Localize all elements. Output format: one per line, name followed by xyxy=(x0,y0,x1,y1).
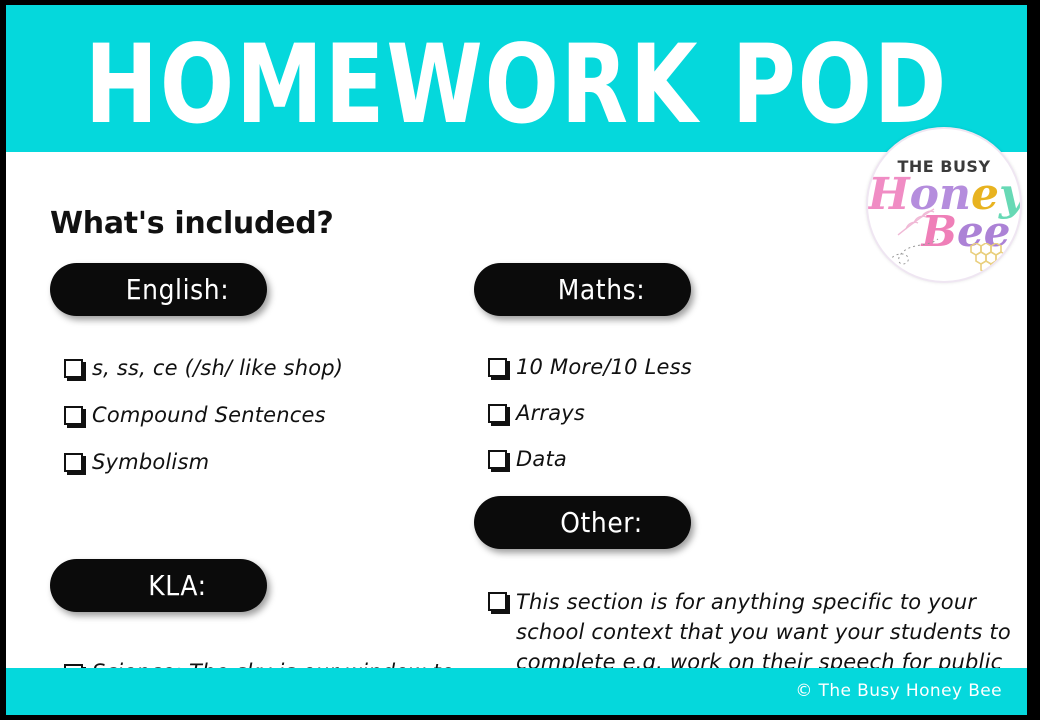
section-pill-maths-label: Maths: xyxy=(474,273,691,305)
maths-item-list: 10 More/10 Less Arrays Data xyxy=(474,353,1019,474)
honeycomb-icon xyxy=(964,243,1006,273)
checkbox-icon[interactable] xyxy=(488,450,507,469)
section-pill-other: Other: xyxy=(474,496,691,549)
left-column: English: s, ss, ce (/sh/ like shop) Comp… xyxy=(50,263,470,715)
list-item: Compound Sentences xyxy=(50,401,470,430)
checkbox-icon[interactable] xyxy=(488,592,507,611)
right-column: Maths: 10 More/10 Less Arrays Data Other… xyxy=(474,263,1019,707)
page-title: HOMEWORK POD xyxy=(47,16,986,154)
list-item: Arrays xyxy=(474,399,1019,428)
list-item: Symbolism xyxy=(50,448,470,477)
section-pill-other-label: Other: xyxy=(474,506,691,538)
slide-canvas: HOMEWORK POD THE BUSY Honey Bee xyxy=(6,5,1027,715)
whats-included-heading: What's included? xyxy=(50,206,333,241)
checkbox-icon[interactable] xyxy=(64,453,83,472)
checkbox-icon[interactable] xyxy=(488,404,507,423)
section-pill-maths: Maths: xyxy=(474,263,691,316)
list-item-label: Symbolism xyxy=(92,450,209,474)
footer-band: © The Busy Honey Bee xyxy=(6,668,1027,715)
footer-copyright: © The Busy Honey Bee xyxy=(795,681,1002,701)
section-pill-kla-label: KLA: xyxy=(50,569,267,601)
list-item-label: Compound Sentences xyxy=(92,403,326,427)
section-pill-english-label: English: xyxy=(50,273,267,305)
brand-logo: THE BUSY Honey Bee xyxy=(862,150,1025,275)
wheat-sprig-icon xyxy=(894,205,940,239)
header-band: HOMEWORK POD xyxy=(6,5,1027,152)
checkbox-icon[interactable] xyxy=(64,406,83,425)
section-pill-english: English: xyxy=(50,263,267,316)
list-item-label: 10 More/10 Less xyxy=(516,355,692,379)
checkbox-icon[interactable] xyxy=(488,358,507,377)
list-item: s, ss, ce (/sh/ like shop) xyxy=(50,354,470,383)
list-item: Data xyxy=(474,445,1019,474)
list-item-label: s, ss, ce (/sh/ like shop) xyxy=(92,356,343,380)
checkbox-icon[interactable] xyxy=(64,359,83,378)
english-item-list: s, ss, ce (/sh/ like shop) Compound Sent… xyxy=(50,354,470,477)
list-item-label: Data xyxy=(516,447,567,471)
logo-circle: THE BUSY Honey Bee xyxy=(866,127,1022,283)
section-pill-kla: KLA: xyxy=(50,559,267,612)
list-item-label: Arrays xyxy=(516,401,585,425)
bee-trail-icon xyxy=(882,237,942,277)
list-item: 10 More/10 Less xyxy=(474,353,1019,382)
